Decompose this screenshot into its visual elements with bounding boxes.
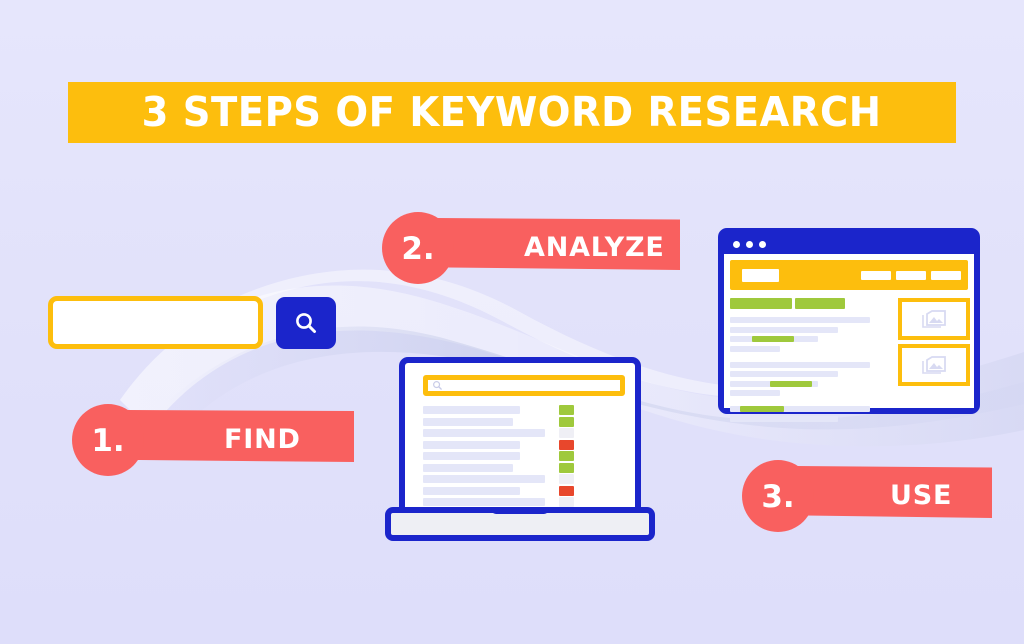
- laptop-search-input[interactable]: [423, 375, 625, 396]
- laptop-illustration: [385, 357, 655, 551]
- badge-number: 3.: [761, 482, 794, 513]
- text-line: [730, 390, 882, 397]
- keyword-highlight: [752, 336, 794, 342]
- title-banner: 3 STEPS OF KEYWORD RESEARCH: [68, 82, 956, 143]
- keyword-text-line: [423, 487, 520, 495]
- difficulty-status-chip: [559, 451, 574, 461]
- keyword-text-line: [423, 498, 545, 506]
- paragraph-block: [730, 317, 882, 353]
- text-line: [730, 381, 882, 388]
- text-line: [730, 336, 882, 343]
- paragraph-block: [730, 362, 882, 398]
- badge-circle: 3.: [742, 460, 814, 532]
- keyword-text-line: [423, 452, 520, 460]
- infographic-canvas: 3 STEPS OF KEYWORD RESEARCH: [0, 0, 1024, 644]
- badge-number: 1.: [91, 426, 124, 457]
- difficulty-status-chip: [559, 474, 574, 484]
- search-input[interactable]: [48, 296, 263, 349]
- keyword-highlight: [770, 381, 812, 387]
- nav-item-2[interactable]: [896, 271, 926, 280]
- difficulty-status-chip: [559, 405, 574, 415]
- text-line: [730, 362, 882, 369]
- site-navbar: [730, 260, 968, 290]
- keyword-result-list: [423, 405, 633, 520]
- text-line-fill: [730, 416, 838, 422]
- nav-item-1[interactable]: [861, 271, 891, 280]
- text-line-fill: [730, 362, 870, 368]
- page-title: 3 STEPS OF KEYWORD RESEARCH: [142, 92, 882, 133]
- text-line-fill: [730, 317, 870, 323]
- site-logo[interactable]: [742, 269, 779, 282]
- keyword-text-line: [423, 406, 520, 414]
- keyword-text-line: [423, 464, 513, 472]
- keyword-text-line: [423, 429, 545, 437]
- window-dot-close[interactable]: [733, 241, 740, 248]
- text-line: [730, 371, 882, 378]
- paragraph-blocks: [730, 317, 882, 423]
- keyword-highlight: [740, 406, 784, 412]
- nav-item-3[interactable]: [931, 271, 961, 280]
- badge-circle: 2.: [382, 212, 454, 284]
- text-line-fill: [730, 390, 780, 396]
- text-line: [730, 327, 882, 334]
- badge-label: USE: [890, 482, 952, 509]
- keyword-result-row: [423, 486, 633, 498]
- badge-label: FIND: [224, 426, 301, 453]
- image-placeholder-2[interactable]: [898, 344, 970, 386]
- text-line: [730, 406, 882, 413]
- difficulty-status-chip: [559, 440, 574, 450]
- image-placeholder-1[interactable]: [898, 298, 970, 340]
- text-line-fill: [730, 346, 780, 352]
- badge-number: 2.: [401, 234, 434, 265]
- heading-blocks: [730, 298, 882, 309]
- heading-block: [730, 298, 792, 309]
- search-button[interactable]: [276, 297, 336, 349]
- photo-icon: [921, 355, 947, 375]
- keyword-result-row: [423, 405, 633, 417]
- media-column: [898, 298, 970, 390]
- text-line: [730, 317, 882, 324]
- article-column: [730, 298, 882, 432]
- keyword-result-row: [423, 474, 633, 486]
- window-dot-minimize[interactable]: [746, 241, 753, 248]
- navbar-menu: [861, 271, 961, 280]
- text-line-fill: [730, 371, 838, 377]
- badge-circle: 1.: [72, 404, 144, 476]
- keyword-result-row: [423, 428, 633, 440]
- keyword-text-line: [423, 475, 545, 483]
- text-line: [730, 346, 882, 353]
- browser-body: [724, 254, 974, 408]
- page-content: [730, 298, 968, 432]
- search-icon: [432, 380, 443, 391]
- heading-block: [795, 298, 845, 309]
- difficulty-status-chip: [559, 463, 574, 473]
- keyword-text-line: [423, 418, 513, 426]
- badge-label: ANALYZE: [524, 234, 665, 261]
- photo-icon: [921, 309, 947, 329]
- window-dot-maximize[interactable]: [759, 241, 766, 248]
- laptop-hinge-notch: [491, 507, 549, 514]
- keyword-text-line: [423, 441, 520, 449]
- difficulty-status-chip: [559, 428, 574, 438]
- search-icon: [293, 310, 319, 336]
- difficulty-status-chip: [559, 497, 574, 507]
- keyword-result-row: [423, 451, 633, 463]
- browser-titlebar: [724, 234, 974, 254]
- keyword-result-row: [423, 463, 633, 475]
- text-line-fill: [730, 327, 838, 333]
- keyword-result-row: [423, 417, 633, 429]
- browser-window: [718, 228, 980, 414]
- paragraph-block: [730, 406, 882, 423]
- text-line: [730, 416, 882, 423]
- difficulty-status-chip: [559, 486, 574, 496]
- keyword-result-row: [423, 440, 633, 452]
- difficulty-status-chip: [559, 417, 574, 427]
- laptop-screen: [399, 357, 641, 515]
